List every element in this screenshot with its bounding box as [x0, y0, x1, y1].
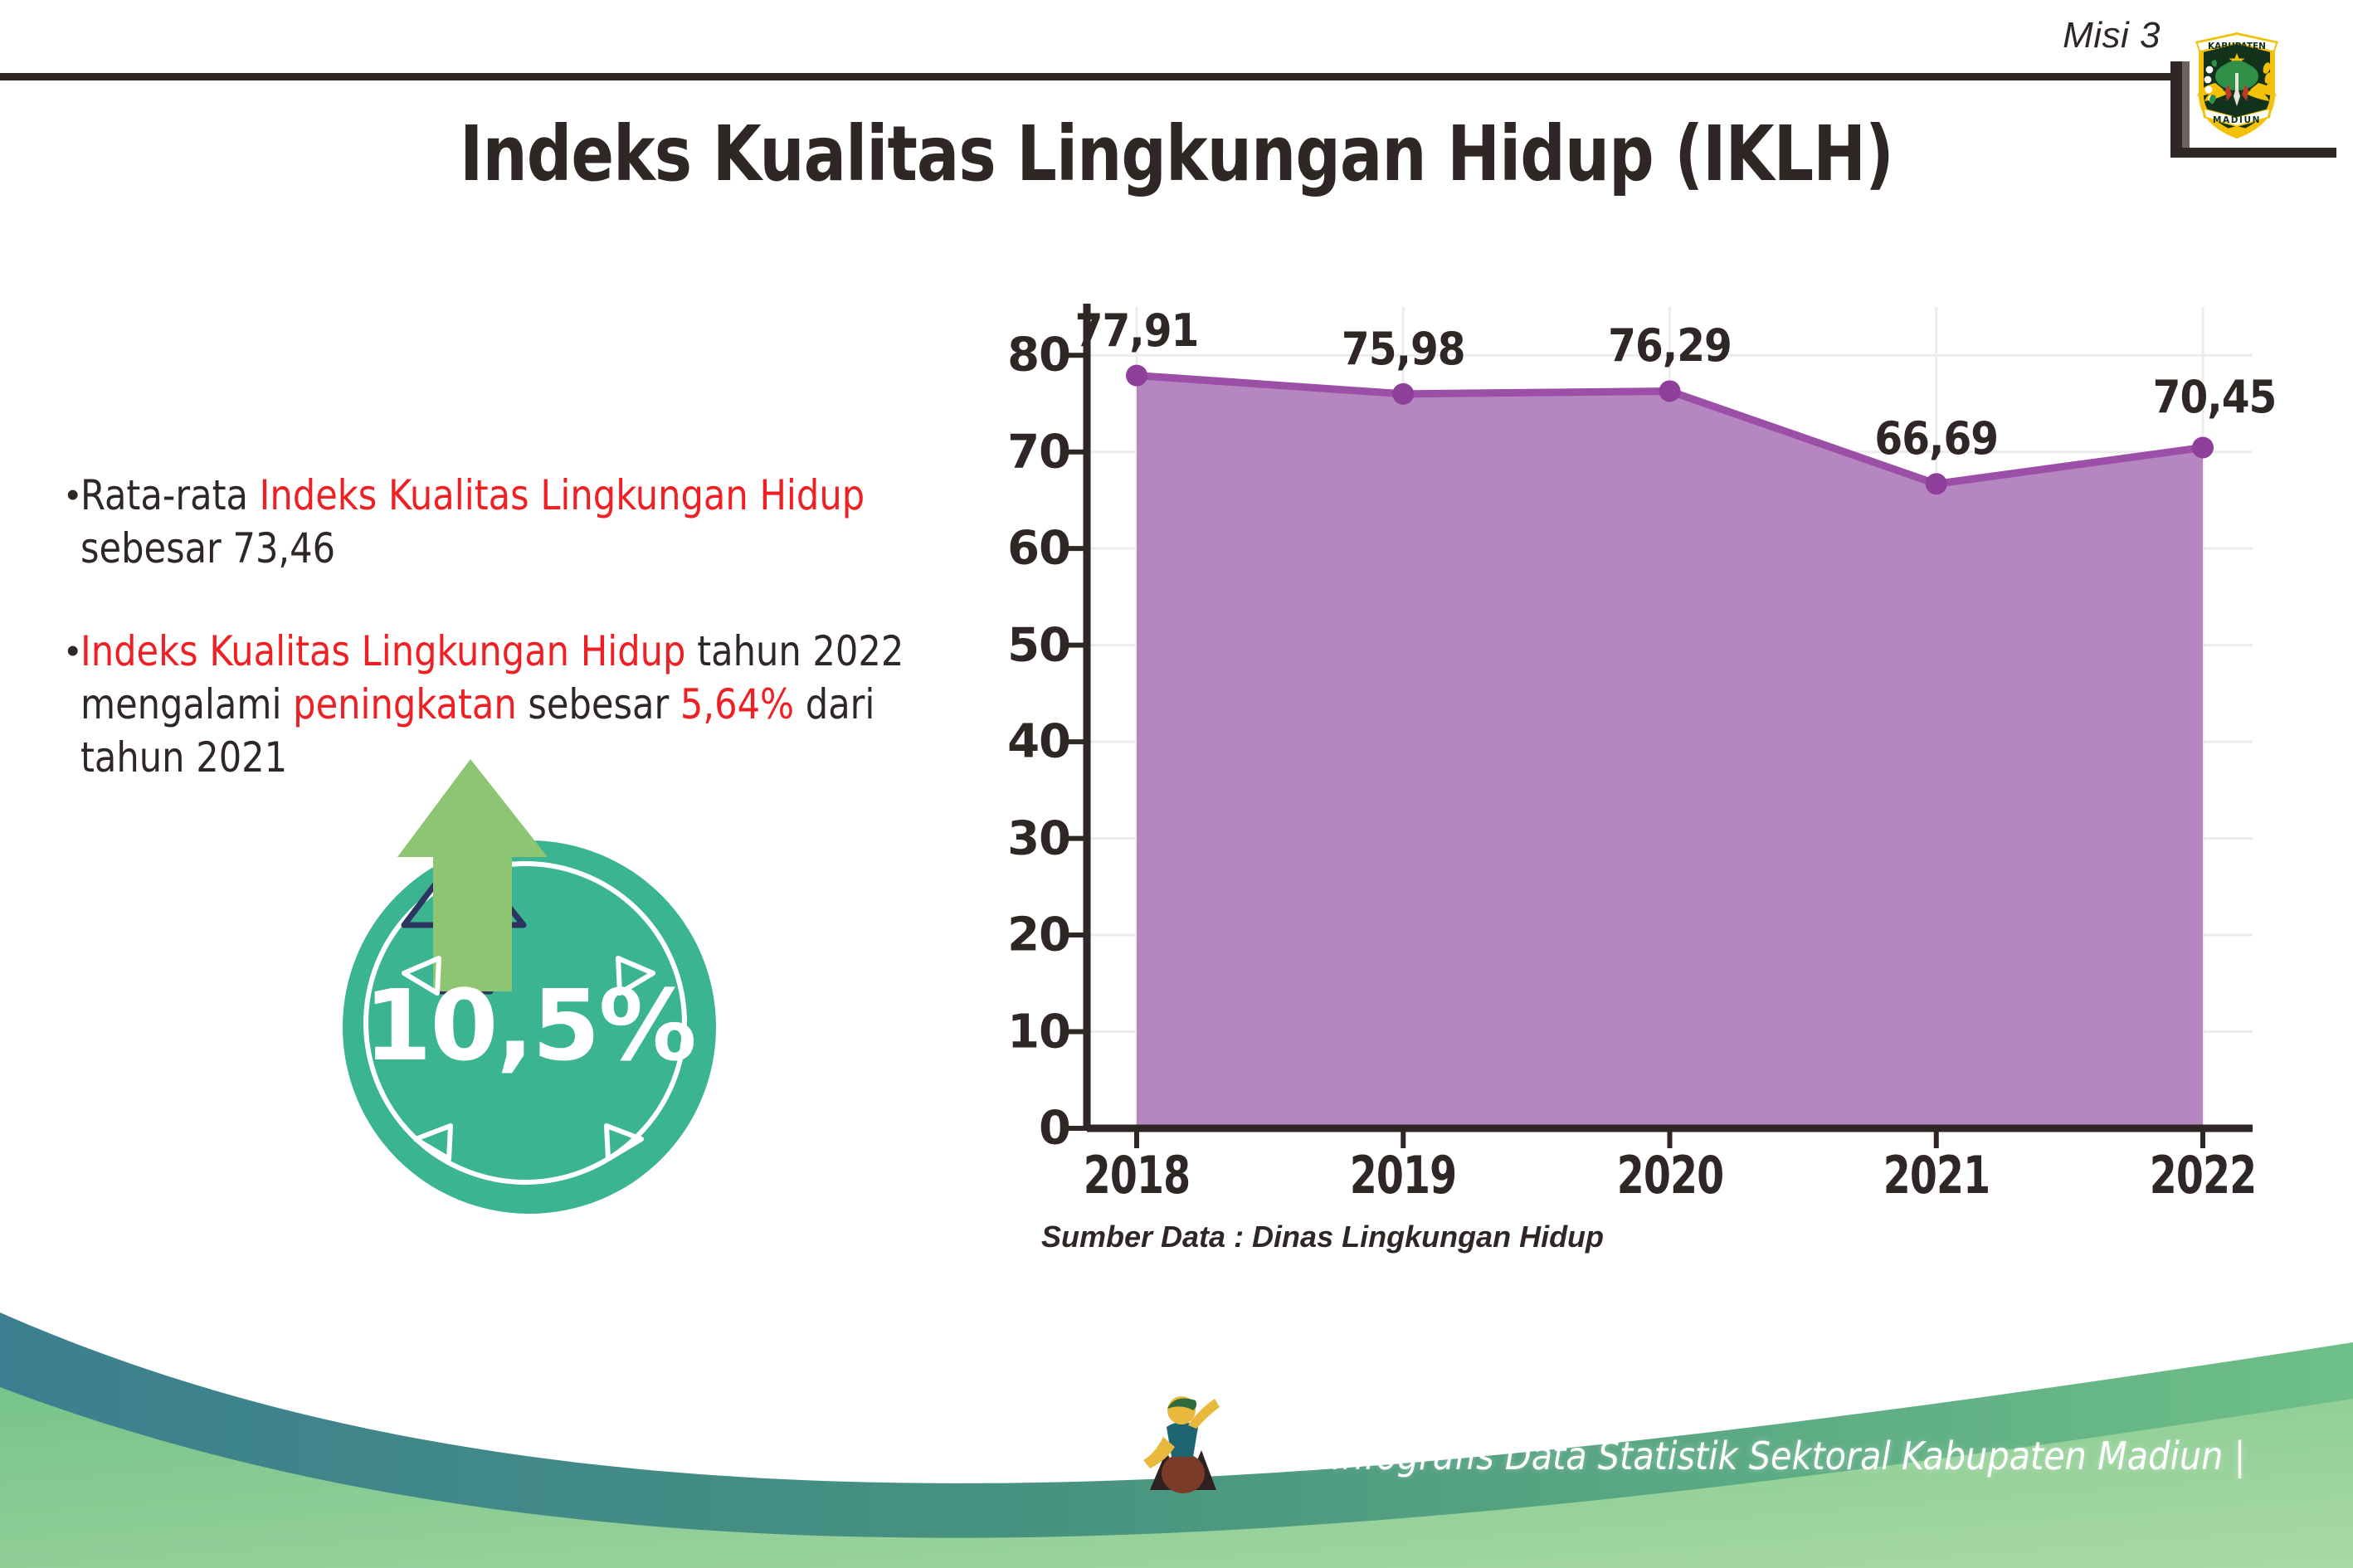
bullet-item-0: • Rata-rata Indeks Kualitas Lingkungan H… [66, 469, 987, 575]
bullet-segment-2: peningkatan [294, 680, 518, 728]
data-label: 75,98 [1342, 323, 1465, 375]
data-label: 70,45 [2153, 371, 2277, 423]
emblem-top-text: KABUPATEN [2208, 41, 2266, 51]
header-rule [0, 73, 2170, 80]
x-tick-label: 2020 [1616, 1145, 1723, 1205]
dancer-figure-icon [1138, 1389, 1225, 1495]
data-point [2192, 436, 2214, 458]
data-label: 76,29 [1608, 319, 1732, 372]
increase-badge: 10,5% [328, 751, 743, 1215]
data-point [1659, 380, 1681, 402]
data-point [1392, 383, 1414, 405]
badge-percent-value: 10,5% [328, 968, 731, 1083]
data-label: 77,91 [1075, 304, 1199, 357]
bullet-segment-2: sebesar 73,46 [80, 524, 335, 572]
iklh-area-chart: 01020304050607080 20182019202020212022 7… [971, 299, 2265, 1178]
area-fill [1137, 376, 2203, 1128]
bullet-text-0: Rata-rata Indeks Kualitas Lingkungan Hid… [80, 469, 951, 575]
bullet-segment-1: Indeks Kualitas Lingkungan Hidup [260, 471, 865, 519]
bullet-segment-3: sebesar [517, 680, 680, 728]
bullet-marker: • [66, 633, 79, 670]
mission-label: Misi 3 [2063, 15, 2161, 56]
x-tick-label: 2019 [1350, 1145, 1457, 1205]
x-tick-label: 2018 [1084, 1145, 1191, 1205]
chart-plot-area [971, 299, 2265, 1178]
data-point [1126, 365, 1147, 387]
infographic-slide: Misi 3 KABUPATEN MADIUN [0, 0, 2353, 1568]
bullet-segment-4: 5,64% [680, 680, 794, 728]
bullet-segment-0: Rata-rata [80, 471, 260, 519]
data-label: 66,69 [1874, 412, 1998, 465]
footer-caption: Media Infografis Data Statistik Sektoral… [1218, 1434, 2245, 1478]
data-point [1926, 473, 1947, 494]
bullet-segment-0: Indeks Kualitas Lingkungan Hidup [80, 627, 685, 675]
page-title: Indeks Kualitas Lingkungan Hidup (IKLH) [94, 110, 2258, 198]
x-tick-label: 2022 [2150, 1145, 2257, 1205]
x-tick-label: 2021 [1883, 1145, 1990, 1205]
source-note: Sumber Data : Dinas Lingkungan Hidup [1041, 1220, 1604, 1254]
bullet-marker: • [66, 477, 79, 514]
